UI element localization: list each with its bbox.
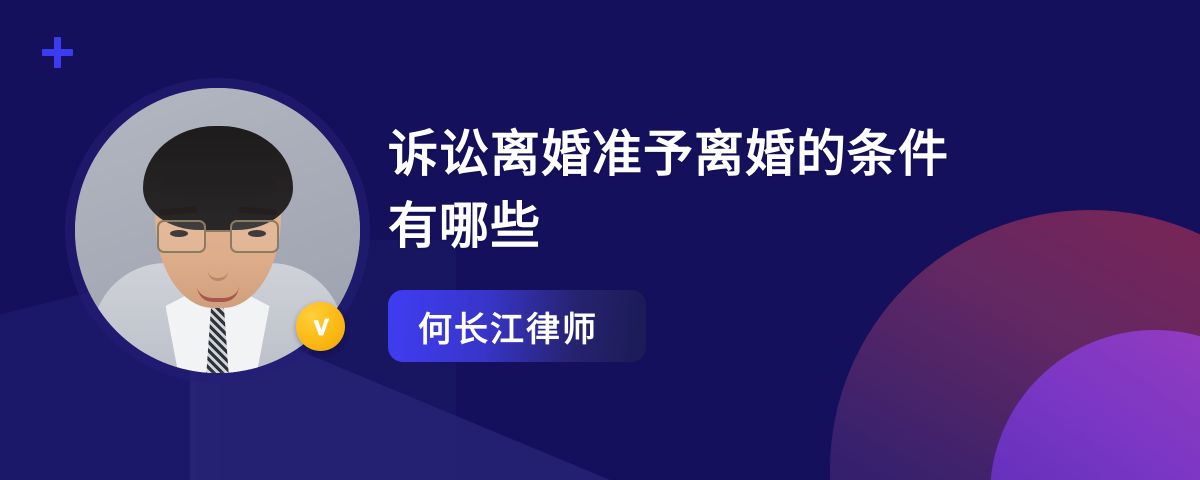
glasses-bridge (204, 230, 232, 232)
author-name-pill[interactable]: 何长江律师 (388, 290, 646, 362)
lawyer-article-banner: 诉讼离婚准予离婚的条件 有哪些 何长江律师 (0, 0, 1200, 480)
glasses-lens-right (230, 220, 279, 253)
glasses-lens-left (157, 220, 206, 253)
page-title: 诉讼离婚准予离婚的条件 有哪些 (388, 118, 1088, 262)
verified-v-badge-icon (296, 302, 345, 351)
portrait-glasses (157, 220, 279, 250)
portrait-nose (208, 256, 228, 281)
avatar[interactable] (75, 88, 360, 373)
plus-icon (42, 37, 73, 68)
banner-content: 诉讼离婚准予离婚的条件 有哪些 何长江律师 (388, 118, 1088, 362)
